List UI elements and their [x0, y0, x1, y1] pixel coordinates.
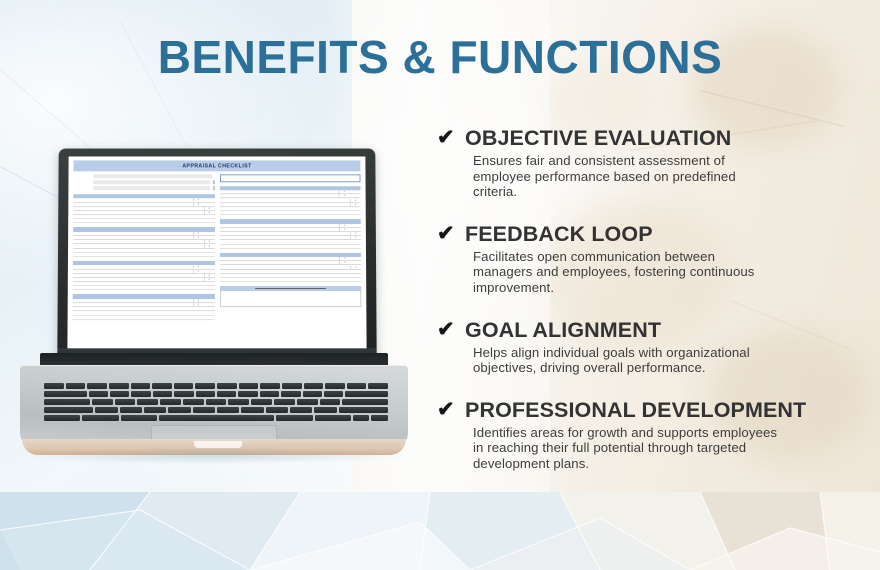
keyboard-key[interactable] [183, 399, 204, 405]
cell-no[interactable]: ✓ [350, 266, 361, 269]
laptop-keyboard[interactable] [44, 383, 388, 421]
laptop-shadow [26, 448, 406, 464]
appraisal-document: APPRAISAL CHECKLIST [67, 156, 366, 348]
check-icon: ✔ [437, 126, 461, 150]
keyboard-key[interactable] [131, 383, 151, 389]
cell-yes[interactable]: ✓ [339, 228, 350, 231]
keyboard-key[interactable] [324, 391, 343, 397]
benefit-description: Identifies areas for growth and supports… [473, 425, 783, 472]
keyboard-key[interactable] [241, 407, 263, 413]
cell-yes[interactable]: ✓ [339, 195, 350, 198]
document-meta-block [73, 175, 214, 191]
cell-no[interactable]: ✓ [350, 199, 361, 202]
keyboard-key[interactable] [137, 399, 158, 405]
keyboard-key[interactable] [228, 399, 249, 405]
cell-yes[interactable]: ✓ [193, 236, 204, 239]
cell-yes[interactable]: ✓ [193, 203, 204, 206]
keyboard-key[interactable] [160, 399, 181, 405]
keyboard-key[interactable] [339, 407, 388, 413]
cell-no[interactable]: ✓ [204, 240, 215, 243]
keyboard-row [44, 415, 388, 421]
table-row-empty [73, 316, 215, 320]
laptop-lid: APPRAISAL CHECKLIST [57, 149, 376, 361]
cell-yes[interactable]: ✓ [192, 299, 203, 302]
laptop-base [18, 353, 410, 458]
cell-yes[interactable]: ✓ [339, 257, 350, 260]
keyboard-key[interactable] [110, 391, 129, 397]
keyboard-key[interactable] [44, 415, 80, 421]
benefit-heading-row: ✔ PROFESSIONAL DEVELOPMENT [437, 398, 877, 422]
meta-value [93, 175, 211, 179]
keyboard-key[interactable] [206, 399, 227, 405]
keyboard-key[interactable] [174, 391, 193, 397]
keyboard-key[interactable] [325, 383, 345, 389]
table-row-empty [73, 253, 215, 257]
keyboard-key[interactable] [131, 391, 150, 397]
document-right-column: ✓✓✓✓✓✓✓✓✓✓✓ [219, 175, 361, 324]
keyboard-key[interactable] [44, 407, 93, 413]
cell-yes[interactable]: ✓ [192, 303, 203, 306]
keyboard-key[interactable] [66, 383, 86, 389]
benefit-heading-row: ✔ GOAL ALIGNMENT [437, 318, 877, 342]
keyboard-key[interactable] [217, 407, 239, 413]
keyboard-key[interactable] [368, 383, 388, 389]
meta-value [93, 180, 209, 184]
section-header [73, 295, 215, 299]
benefit-item-objective-evaluation: ✔ OBJECTIVE EVALUATION Ensures fair and … [437, 126, 877, 200]
keyboard-key[interactable] [87, 383, 107, 389]
benefits-list: ✔ OBJECTIVE EVALUATION Ensures fair and … [437, 126, 877, 494]
cell-yes[interactable]: ✓ [192, 270, 203, 273]
keyboard-key[interactable] [314, 407, 336, 413]
benefit-heading-row: ✔ FEEDBACK LOOP [437, 222, 877, 246]
meta-row [73, 180, 214, 184]
cell-no[interactable]: ✓ [350, 203, 361, 206]
cell-yes[interactable]: ✓ [192, 265, 203, 268]
keyboard-key[interactable] [353, 415, 370, 421]
laptop-deck [20, 365, 408, 447]
keyboard-row [44, 391, 388, 397]
keyboard-key[interactable] [371, 415, 388, 421]
benefit-item-professional-development: ✔ PROFESSIONAL DEVELOPMENT Identifies ar… [437, 398, 877, 472]
keyboard-key[interactable] [217, 391, 236, 397]
keyboard-key[interactable] [195, 383, 215, 389]
section-header [219, 219, 360, 223]
keyboard-key[interactable] [217, 383, 237, 389]
laptop-screen: APPRAISAL CHECKLIST [67, 156, 366, 348]
document-left-column: ✓✓✓✓✓✓✓✓✓✓✓✓✓✓ [73, 175, 215, 324]
keyboard-key[interactable] [297, 399, 318, 405]
meta-row [73, 175, 214, 179]
keyboard-key[interactable] [282, 383, 302, 389]
cell-no[interactable]: ✓ [350, 232, 361, 235]
meta-right [213, 186, 215, 190]
cell-no[interactable]: ✓ [204, 245, 215, 248]
keyboard-key[interactable] [345, 391, 388, 397]
cell-yes[interactable]: ✓ [339, 261, 350, 264]
section-feedback-documentation: ✓✓✓✓ [73, 261, 215, 291]
keyboard-key[interactable] [168, 407, 190, 413]
keyboard-key[interactable] [274, 399, 295, 405]
keyboard-row [44, 383, 388, 389]
notes-header-label [255, 288, 326, 290]
keyboard-key[interactable] [251, 399, 272, 405]
meta-row [73, 186, 214, 190]
document-notice-block [219, 175, 360, 182]
keyboard-key[interactable] [44, 391, 87, 397]
keyboard-key[interactable] [44, 399, 90, 405]
table-row-empty [219, 211, 360, 215]
meta-mini-cell [213, 186, 215, 190]
page-title: BENEFITS & FUNCTIONS [0, 30, 880, 84]
benefit-item-goal-alignment: ✔ GOAL ALIGNMENT Helps align individual … [437, 318, 877, 376]
keyboard-key[interactable] [95, 407, 117, 413]
cell-no[interactable]: ✓ [350, 236, 361, 239]
keyboard-key[interactable] [144, 407, 166, 413]
document-title: APPRAISAL CHECKLIST [74, 160, 361, 171]
benefit-description: Helps align individual goals with organi… [473, 345, 773, 376]
section-header [73, 228, 214, 232]
document-left-sections: ✓✓✓✓✓✓✓✓✓✓✓✓✓✓ [73, 194, 215, 320]
keyboard-key[interactable] [320, 399, 341, 405]
keyboard-key[interactable] [82, 415, 118, 421]
keyboard-key[interactable] [115, 399, 136, 405]
keyboard-key[interactable] [315, 415, 351, 421]
keyboard-key[interactable] [152, 383, 172, 389]
section-header [219, 186, 360, 190]
laptop-front-notch [194, 441, 242, 448]
keyboard-key[interactable] [303, 391, 322, 397]
benefit-item-feedback-loop: ✔ FEEDBACK LOOP Facilitates open communi… [437, 222, 877, 296]
keyboard-key[interactable] [174, 383, 194, 389]
slide-canvas: BENEFITS & FUNCTIONS ✔ OBJECTIVE EVALUAT… [0, 0, 880, 570]
cell-yes[interactable]: ✓ [339, 224, 350, 227]
keyboard-key[interactable] [276, 415, 312, 421]
keyboard-key[interactable] [290, 407, 312, 413]
keyboard-key[interactable] [196, 391, 215, 397]
benefit-title: OBJECTIVE EVALUATION [465, 126, 731, 150]
keyboard-key[interactable] [193, 407, 215, 413]
meta-value [93, 186, 209, 190]
keyboard-key[interactable] [260, 391, 279, 397]
bottom-polygon-band [0, 492, 880, 570]
keyboard-key[interactable] [89, 391, 108, 397]
cell-no[interactable]: ✓ [203, 274, 214, 277]
keyboard-key[interactable] [159, 415, 275, 421]
document-columns: ✓✓✓✓✓✓✓✓✓✓✓✓✓✓ [73, 175, 362, 324]
keyboard-key[interactable] [120, 407, 142, 413]
keyboard-row [44, 407, 388, 413]
keyboard-key[interactable] [266, 407, 288, 413]
section-behaviour-administration: ✓✓✓✓ [219, 219, 360, 248]
cell-yes[interactable]: ✓ [193, 199, 204, 202]
keyboard-key[interactable] [342, 399, 388, 405]
section-performance-goals: ✓✓✓✓ [73, 194, 214, 223]
keyboard-key[interactable] [153, 391, 172, 397]
benefit-heading-row: ✔ OBJECTIVE EVALUATION [437, 126, 877, 150]
section-header [73, 261, 215, 265]
table-row-empty [219, 245, 360, 249]
benefit-title: FEEDBACK LOOP [465, 222, 653, 246]
cell-no[interactable]: ✓ [204, 211, 215, 214]
cell-no[interactable]: ✓ [204, 207, 215, 210]
benefit-description: Facilitates open communication between m… [473, 249, 773, 296]
keyboard-key[interactable] [239, 383, 259, 389]
keyboard-key[interactable] [281, 391, 300, 397]
cell-yes[interactable]: ✓ [339, 190, 350, 193]
cell-yes[interactable]: ✓ [193, 232, 204, 235]
table-row-empty [220, 278, 362, 282]
keyboard-key[interactable] [121, 415, 157, 421]
section-review-summary: ✓✓ [73, 295, 215, 320]
notes-body [220, 291, 362, 307]
keyboard-key[interactable] [347, 383, 367, 389]
keyboard-key[interactable] [260, 383, 280, 389]
keyboard-key[interactable] [304, 383, 324, 389]
check-icon: ✔ [437, 318, 461, 342]
keyboard-key[interactable] [238, 391, 257, 397]
check-icon: ✔ [437, 398, 461, 422]
section-header [219, 253, 361, 257]
benefit-title: GOAL ALIGNMENT [465, 318, 661, 342]
benefit-description: Ensures fair and consistent assessment o… [473, 153, 773, 200]
check-icon: ✔ [437, 222, 461, 246]
keyboard-key[interactable] [44, 383, 64, 389]
section-header [73, 194, 214, 198]
meta-mini-cell [213, 180, 215, 184]
cell-no[interactable]: ✓ [203, 278, 214, 281]
keyboard-key[interactable] [92, 399, 113, 405]
section-performance-review: ✓✓✓✓ [219, 186, 360, 215]
keyboard-row [44, 399, 388, 405]
meta-right [213, 180, 215, 184]
document-right-sections: ✓✓✓✓✓✓✓✓✓✓✓ [219, 186, 361, 282]
section-job-competencies: ✓✓✓✓ [73, 228, 215, 257]
keyboard-key[interactable] [109, 383, 129, 389]
table-row-empty [73, 286, 215, 290]
table-row-empty [73, 219, 214, 223]
laptop-mockup: APPRAISAL CHECKLIST [18, 148, 410, 458]
section-career-development: ✓✓✓ [219, 253, 361, 283]
benefit-title: PROFESSIONAL DEVELOPMENT [465, 398, 806, 422]
